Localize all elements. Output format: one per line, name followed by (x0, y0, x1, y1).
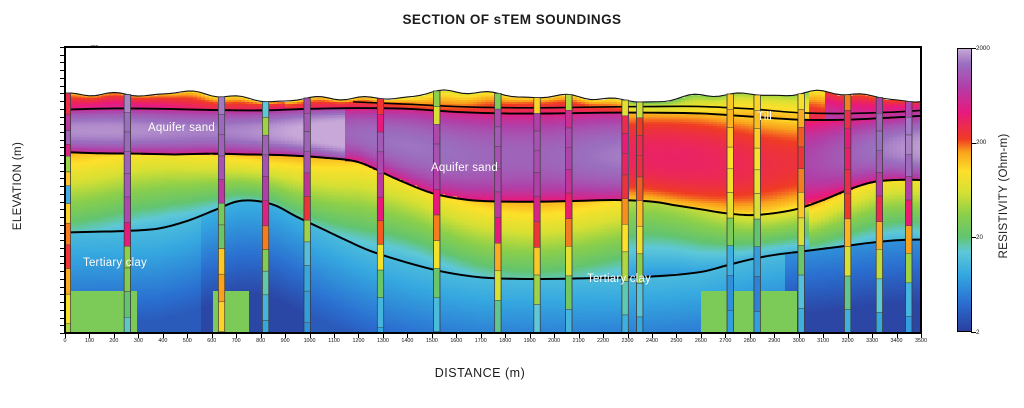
chart-root: SECTION OF sTEM SOUNDINGS ELEVATION (m) … (0, 0, 1024, 408)
x-tick-label: 3400 (885, 338, 909, 344)
sounding-column[interactable] (622, 100, 628, 333)
x-tick-label: 3500 (909, 338, 933, 344)
sounding-column[interactable] (798, 94, 804, 333)
x-tick-label: 2200 (591, 338, 615, 344)
x-tick-label: 200 (102, 338, 126, 344)
x-tick-label: 1100 (322, 338, 346, 344)
sounding-column[interactable] (637, 102, 643, 333)
x-tick-label: 3100 (811, 338, 835, 344)
title-prefix: SECTION OF s (402, 12, 501, 27)
colorbar-tick-label: 2000 (976, 45, 990, 52)
sounding-column[interactable] (906, 102, 912, 333)
x-tick-label: 2700 (713, 338, 737, 344)
x-tick-label: 2900 (762, 338, 786, 344)
sounding-column[interactable] (754, 95, 760, 333)
x-tick-label: 1400 (395, 338, 419, 344)
x-tick-label: 1600 (444, 338, 468, 344)
title-bold: TEM (502, 12, 532, 27)
sounding-column[interactable] (495, 93, 501, 333)
sounding-column[interactable] (124, 95, 130, 333)
x-tick-label: 3000 (787, 338, 811, 344)
sounding-column[interactable] (262, 102, 268, 333)
sounding-column[interactable] (377, 99, 383, 333)
x-tick-label: 0 (53, 338, 77, 344)
colorbar-tick-label: 2 (976, 329, 979, 336)
sounding-column[interactable] (876, 98, 882, 333)
sounding-column[interactable] (566, 95, 572, 333)
x-tick-label: 1000 (298, 338, 322, 344)
x-axis-title: DISTANCE (m) (0, 366, 960, 380)
sounding-column[interactable] (844, 95, 850, 333)
x-tick-label: 2100 (567, 338, 591, 344)
x-tick-label: 300 (126, 338, 150, 344)
x-tick-label: 800 (249, 338, 273, 344)
x-tick-label: 700 (224, 338, 248, 344)
title-suffix: SOUNDINGS (532, 12, 622, 27)
colorbar-title: RESISTIVITY (Ohm-m) (998, 106, 1010, 286)
resistivity-section-svg (65, 47, 921, 333)
x-tick-label: 1900 (518, 338, 542, 344)
section-plot: Aquifer sandAquifer sandTertiary clayTer… (64, 46, 922, 334)
x-tick-label: 2400 (640, 338, 664, 344)
x-tick-label: 2600 (689, 338, 713, 344)
resistivity-field (65, 91, 921, 333)
x-tick-label: 2500 (664, 338, 688, 344)
x-tick-label: 100 (77, 338, 101, 344)
x-tick-label: 1300 (371, 338, 395, 344)
y-axis-title: ELEVATION (m) (12, 106, 24, 266)
x-tick-label: 500 (175, 338, 199, 344)
x-tick-label: 600 (200, 338, 224, 344)
x-tick-label: 2300 (616, 338, 640, 344)
colorbar-tick-label: 20 (976, 234, 983, 241)
sounding-column[interactable] (218, 97, 224, 333)
x-tick-label: 1200 (346, 338, 370, 344)
page-title: SECTION OF sTEM SOUNDINGS (0, 12, 1024, 27)
x-tick-label: 1700 (469, 338, 493, 344)
x-tick-label: 1800 (493, 338, 517, 344)
sounding-column[interactable] (304, 98, 310, 333)
x-tick-label: 2800 (738, 338, 762, 344)
x-tick-label: 900 (273, 338, 297, 344)
sounding-column[interactable] (727, 94, 733, 333)
x-tick-label: 1500 (420, 338, 444, 344)
x-tick-label: 3300 (860, 338, 884, 344)
colorbar-tick-label: 200 (976, 139, 986, 146)
x-tick-label: 3200 (836, 338, 860, 344)
resistivity-colorbar (957, 48, 972, 332)
sounding-column[interactable] (534, 98, 540, 333)
x-tick-label: 400 (151, 338, 175, 344)
sounding-column[interactable] (434, 91, 440, 333)
x-tick-label: 2000 (542, 338, 566, 344)
